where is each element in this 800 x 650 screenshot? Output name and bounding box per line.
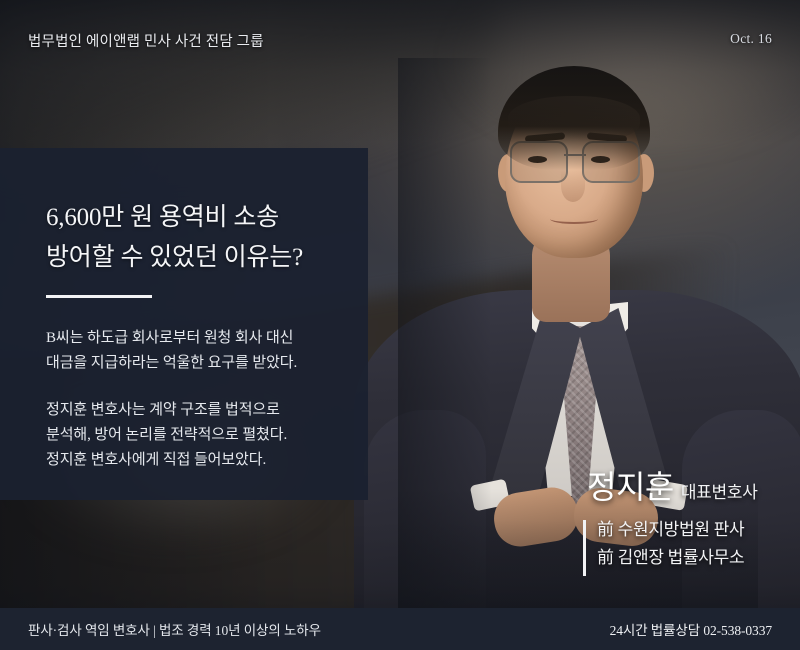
profile-name: 정지훈 [587,462,674,508]
profile-block: 정지훈 대표변호사 前 수원지방법원 판사 前 김앤장 법률사무소 [583,462,793,572]
content-panel-body: 6,600만 원 용역비 소송 방어할 수 있었던 이유는? B씨는 하도급 회… [0,148,368,500]
footer-contact[interactable]: 24시간 법률상담 02-538-0337 [610,619,772,639]
profile-role: 대표변호사 [681,478,758,503]
headline-divider [46,295,152,298]
credentials-accent-bar [583,520,586,576]
headline-line-1: 6,600만 원 용역비 소송 [46,198,346,238]
paragraph2-line-1: 정지훈 변호사는 계약 구조를 법적으로 [46,398,356,423]
credential-item-2: 前 김앤장 법률사무소 [597,544,793,572]
headline-line-2: 방어할 수 있었던 이유는? [46,238,346,278]
page-title: 6,600만 원 용역비 소송 방어할 수 있었던 이유는? [46,198,346,278]
publish-date: Oct. 16 [730,31,772,47]
brand-title: 법무법인 에이앤랩 민사 사건 전담 그룹 [28,30,264,51]
profile-credentials: 前 수원지방법원 판사 前 김앤장 법률사무소 [583,516,793,572]
paragraph1-line-1: B씨는 하도급 회사로부터 원청 회사 대신 [46,326,356,351]
promo-card: 법무법인 에이앤랩 민사 사건 전담 그룹 Oct. 16 6,600만 원 용… [0,0,800,650]
summary-paragraph-2: 정지훈 변호사는 계약 구조를 법적으로 분석해, 방어 논리를 전략적으로 펼… [46,398,356,473]
paragraph1-line-2: 대금을 지급하라는 억울한 요구를 받았다. [46,351,356,376]
credential-item-1: 前 수원지방법원 판사 [597,516,793,544]
summary-paragraph-1: B씨는 하도급 회사로부터 원청 회사 대신 대금을 지급하라는 억울한 요구를… [46,326,356,376]
paragraph2-line-3: 정지훈 변호사에게 직접 들어보았다. [46,448,356,473]
footer-bar: 판사·검사 역임 변호사 | 법조 경력 10년 이상의 노하우 24시간 법률… [0,608,800,650]
paragraph2-line-2: 분석해, 방어 논리를 전략적으로 펼쳤다. [46,423,356,448]
profile-name-row: 정지훈 대표변호사 [587,462,793,508]
footer-tagline: 판사·검사 역임 변호사 | 법조 경력 10년 이상의 노하우 [28,619,321,639]
